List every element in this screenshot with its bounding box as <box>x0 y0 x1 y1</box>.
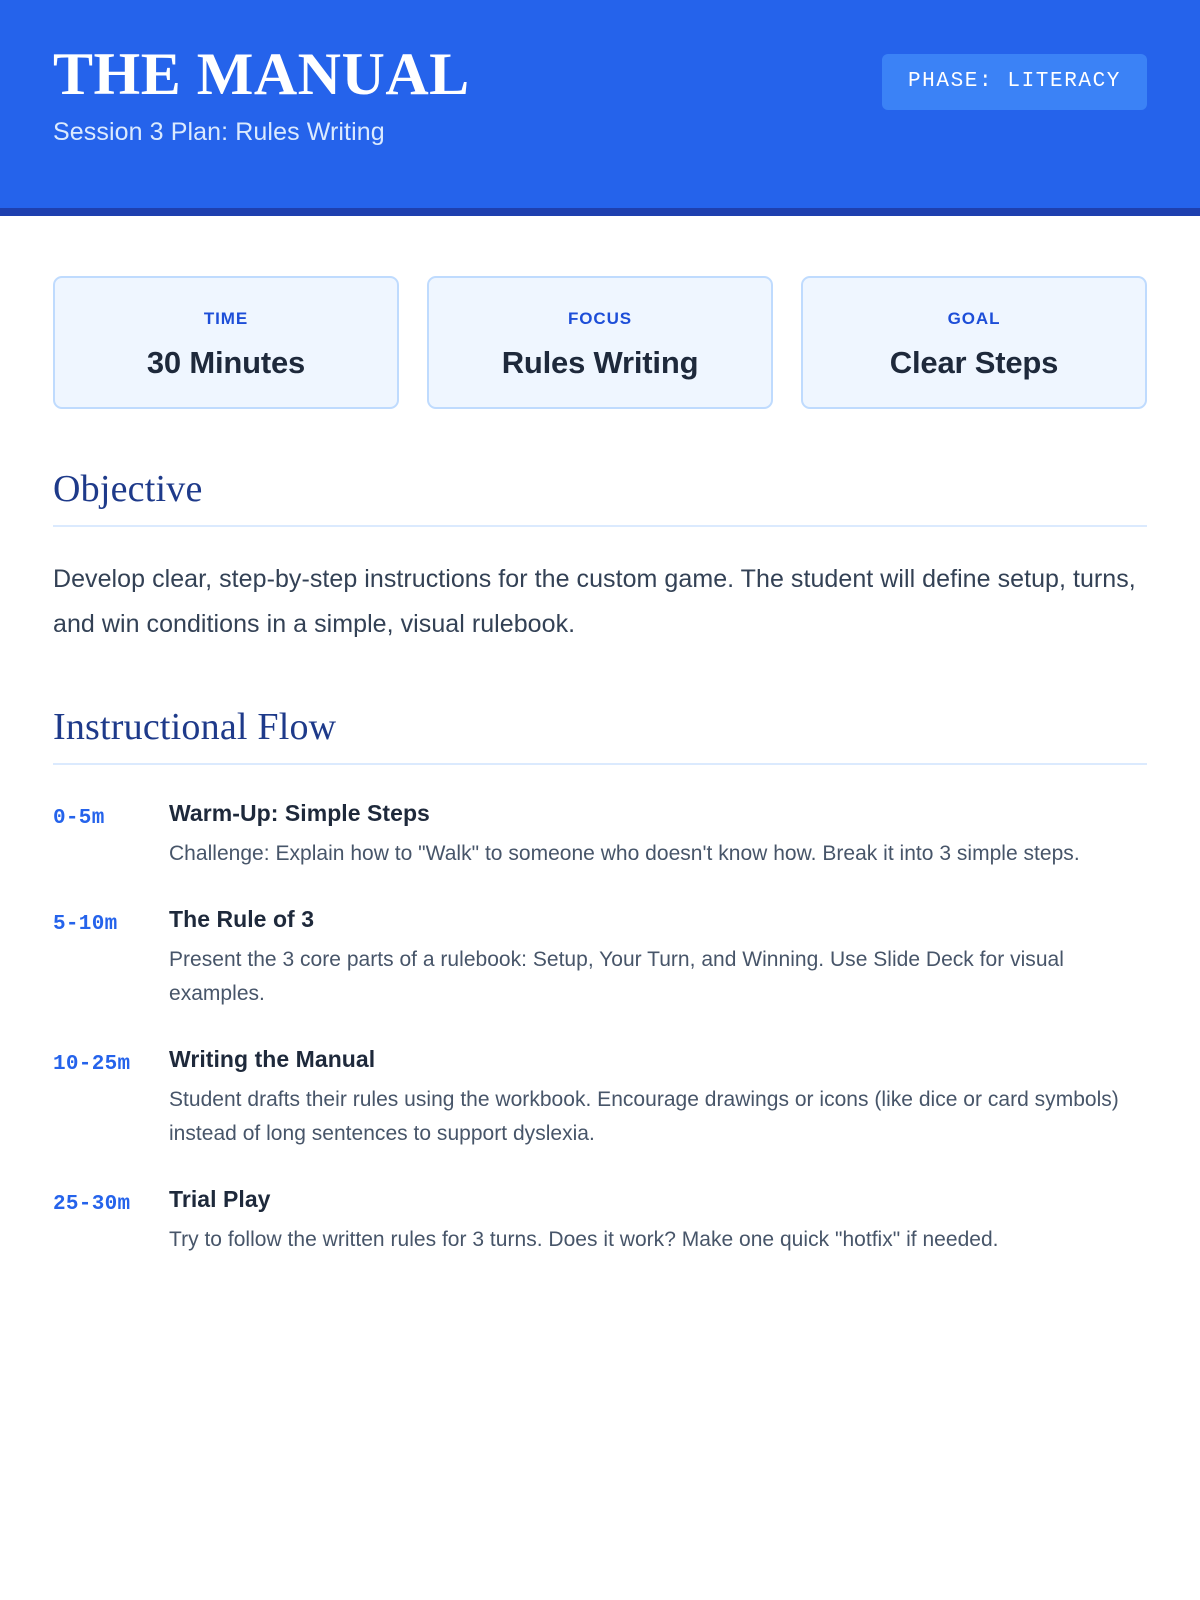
timeline-time: 0-5m <box>53 799 141 835</box>
timeline-description: Challenge: Explain how to "Walk" to some… <box>169 837 1147 871</box>
timeline-item: 5-10m The Rule of 3 Present the 3 core p… <box>53 905 1147 1011</box>
timeline-item: 25-30m Trial Play Try to follow the writ… <box>53 1185 1147 1257</box>
timeline-description: Student drafts their rules using the wor… <box>169 1083 1147 1151</box>
timeline-description: Present the 3 core parts of a rulebook: … <box>169 943 1147 1011</box>
header-left: THE MANUAL Session 3 Plan: Rules Writing <box>53 44 470 147</box>
timeline-title: Trial Play <box>169 1185 1147 1215</box>
objective-section: Objective Develop clear, step-by-step in… <box>53 467 1147 647</box>
stat-card-goal: GOAL Clear Steps <box>801 276 1147 409</box>
page-body: TIME 30 Minutes FOCUS Rules Writing GOAL… <box>0 276 1200 1257</box>
timeline-content: Writing the Manual Student drafts their … <box>141 1045 1147 1151</box>
timeline-title: The Rule of 3 <box>169 905 1147 935</box>
flow-section: Instructional Flow 0-5m Warm-Up: Simple … <box>53 705 1147 1257</box>
stat-card-focus: FOCUS Rules Writing <box>427 276 773 409</box>
timeline-time: 10-25m <box>53 1045 141 1081</box>
timeline-content: Trial Play Try to follow the written rul… <box>141 1185 1147 1257</box>
timeline-item: 0-5m Warm-Up: Simple Steps Challenge: Ex… <box>53 799 1147 871</box>
stat-card-label: TIME <box>204 309 248 329</box>
timeline-content: Warm-Up: Simple Steps Challenge: Explain… <box>141 799 1147 871</box>
stat-card-value: Rules Writing <box>502 345 699 381</box>
timeline-title: Writing the Manual <box>169 1045 1147 1075</box>
flow-timeline: 0-5m Warm-Up: Simple Steps Challenge: Ex… <box>53 799 1147 1257</box>
page-header: THE MANUAL Session 3 Plan: Rules Writing… <box>0 0 1200 216</box>
stat-card-value: 30 Minutes <box>147 345 305 381</box>
timeline-description: Try to follow the written rules for 3 tu… <box>169 1223 1147 1257</box>
stat-cards-row: TIME 30 Minutes FOCUS Rules Writing GOAL… <box>53 276 1147 409</box>
timeline-time: 5-10m <box>53 905 141 941</box>
stat-card-label: FOCUS <box>568 309 632 329</box>
stat-card-value: Clear Steps <box>890 345 1058 381</box>
app-subtitle: Session 3 Plan: Rules Writing <box>53 118 470 147</box>
objective-text: Develop clear, step-by-step instructions… <box>53 557 1147 647</box>
timeline-content: The Rule of 3 Present the 3 core parts o… <box>141 905 1147 1011</box>
flow-heading: Instructional Flow <box>53 705 1147 765</box>
stat-card-label: GOAL <box>948 309 1001 329</box>
timeline-item: 10-25m Writing the Manual Student drafts… <box>53 1045 1147 1151</box>
objective-heading: Objective <box>53 467 1147 527</box>
phase-badge: PHASE: LITERACY <box>882 54 1147 110</box>
stat-card-time: TIME 30 Minutes <box>53 276 399 409</box>
timeline-title: Warm-Up: Simple Steps <box>169 799 1147 829</box>
timeline-time: 25-30m <box>53 1185 141 1221</box>
app-title: THE MANUAL <box>53 44 470 105</box>
